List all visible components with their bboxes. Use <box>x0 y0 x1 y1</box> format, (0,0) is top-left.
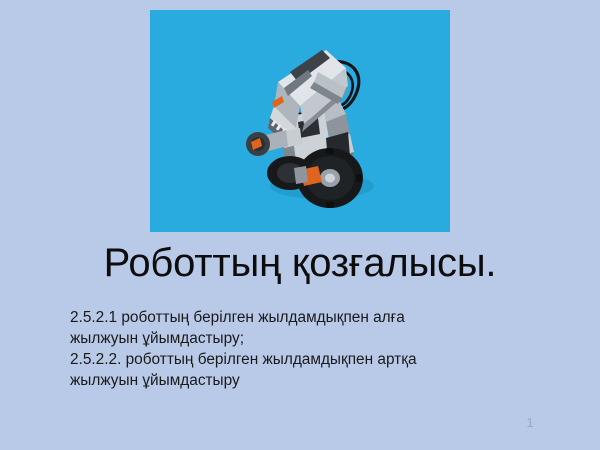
page-number: 1 <box>500 415 560 430</box>
robot-illustration <box>150 10 450 232</box>
slide-canvas: Роботтың қозғалысы. 2.5.2.1 роботтың бер… <box>0 0 600 450</box>
body-line: 2.5.2.1 роботтың берілген жылдамдықпен а… <box>70 307 540 328</box>
body-line: 2.5.2.2. роботтың берілген жылдамдықпен … <box>70 349 540 370</box>
slide-body-text: 2.5.2.1 роботтың берілген жылдамдықпен а… <box>70 307 540 391</box>
body-line: жылжуын ұйымдастыру; <box>70 328 540 349</box>
page-title: Роботтың қозғалысы. <box>40 240 560 286</box>
body-line: жылжуын ұйымдастыру <box>70 370 540 391</box>
picture-frame <box>150 10 450 232</box>
